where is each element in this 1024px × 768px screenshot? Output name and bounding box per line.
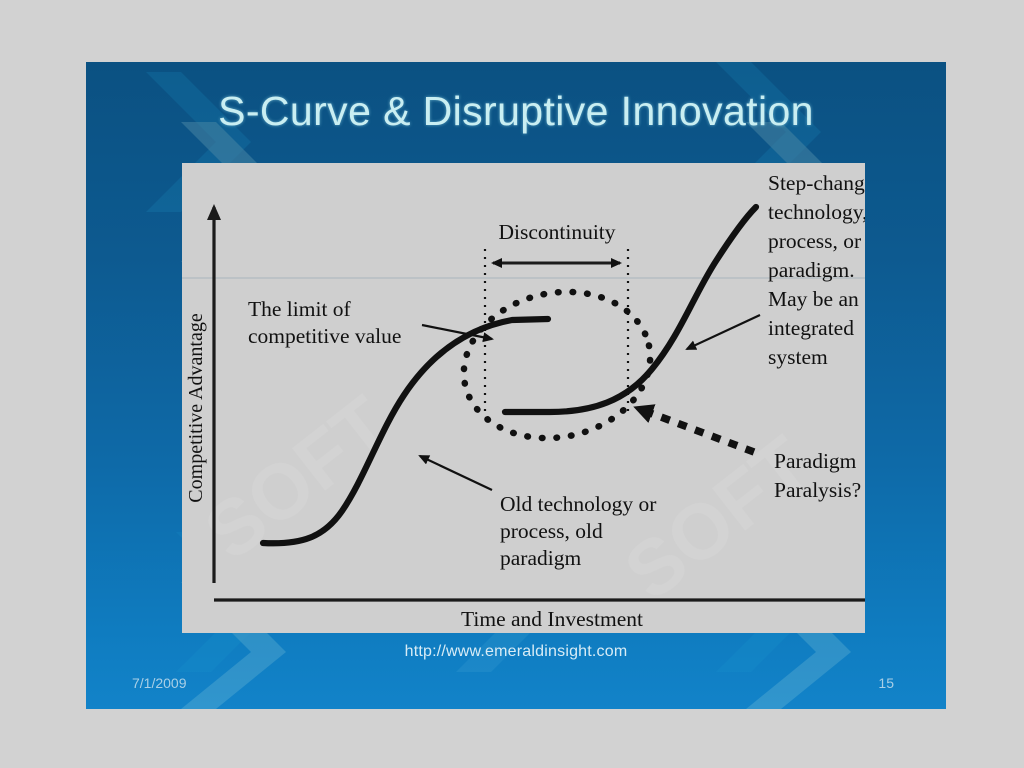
discontinuity-label: Discontinuity [498,220,615,244]
step-change-line-3: process, or [768,229,861,253]
source-url: http://www.emeraldinsight.com [86,643,946,661]
step-change-line-4: paradigm. [768,258,855,282]
x-axis-label: Time and Investment [461,607,643,631]
s-curve-chart: SOFT SOFT Discontinuity [182,163,865,633]
paradigm-paralysis-line-2: Paralysis? [774,478,861,502]
step-change-line-2: technology, [768,200,865,224]
limit-label-line-1: The limit of [248,297,352,321]
y-axis-label: Competitive Advantage [185,313,207,503]
step-change-line-5: May be an [768,287,859,311]
chart-figure: SOFT SOFT Discontinuity [182,163,865,633]
paradigm-paralysis-line-1: Paradigm [774,449,857,473]
limit-label-line-2: competitive value [248,324,401,348]
slide-title: S-Curve & Disruptive Innovation [86,88,946,135]
step-change-line-6: integrated [768,316,854,340]
old-technology-line-1: Old technology or [500,492,656,516]
step-change-line-7: system [768,345,828,369]
old-technology-line-2: process, old [500,519,603,543]
slide-page-number: 15 [878,675,894,691]
old-technology-line-3: paradigm [500,546,581,570]
screenshot-root: S-Curve & Disruptive Innovation [0,0,1024,768]
step-change-line-1: Step-change [768,171,865,195]
presentation-slide: S-Curve & Disruptive Innovation [86,62,946,709]
slide-date: 7/1/2009 [132,675,187,691]
